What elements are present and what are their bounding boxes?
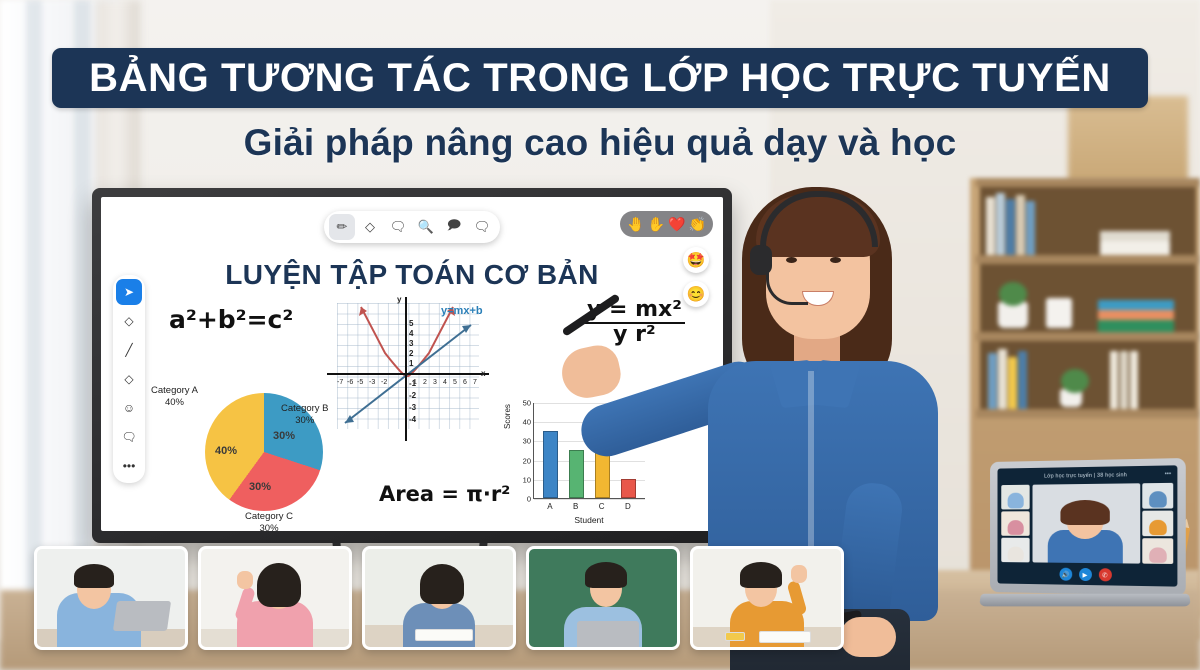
participant-grid [1001,483,1173,564]
student-thumbnail[interactable] [362,546,516,650]
chat-icon[interactable]: 🗨 [469,214,495,240]
page-title: BẢNG TƯƠNG TÁC TRONG LỚP HỌC TRỰC TUYẾN [89,56,1111,101]
whiteboard-tool-rail[interactable]: ➤ ◇ ╱ ◇ ☺ 🗨 ••• [113,275,145,483]
graph-x-axis-label: x [481,369,485,378]
emoji-search-icon[interactable]: ☺ [116,395,142,421]
active-speaker-tile[interactable] [1032,483,1140,563]
comment-icon[interactable]: 🗨 [385,214,411,240]
pie-slice-value-a: 40% [215,445,237,457]
comment-icon[interactable]: 🗨 [116,424,142,450]
page-title-banner: BẢNG TƯƠNG TÁC TRONG LỚP HỌC TRỰC TUYẾN [52,48,1148,108]
bar-student-b [569,450,584,498]
bar-chart-y-label: Scores [503,404,512,429]
hand-icon[interactable]: ✋ [648,216,665,233]
participant-column-right [1142,483,1173,564]
pie-label-category-c: Category C30% [245,511,293,531]
formula-handwritten-denominator: y r² [613,322,656,347]
participant-tile[interactable] [1142,539,1173,564]
graph-y-axis-label: y [397,295,401,304]
pie-slice-value-b: 30% [273,430,295,442]
cursor-icon[interactable]: ➤ [116,279,142,305]
page-subtitle: Giải pháp nâng cao hiệu quả dạy và học [0,122,1200,164]
more-icon[interactable]: ••• [116,453,142,479]
student-thumbnail[interactable] [690,546,844,650]
note-icon[interactable]: 🗩 [441,214,467,240]
line-icon[interactable]: ╱ [116,337,142,363]
bar-ytick-30: 30 [523,437,531,446]
student-thumbnail[interactable] [198,546,352,650]
eraser-icon[interactable]: ◇ [116,308,142,334]
coordinate-graph: y x y=mx+b -7 -6 -5 -3 -2 1 2 3 4 5 6 7 … [323,295,493,445]
camera-button[interactable]: ▶ [1079,568,1092,581]
eraser-icon[interactable]: ◇ [357,214,383,240]
zoom-in-icon[interactable]: 🔍 [413,214,439,240]
graph-y-axis [405,297,407,441]
bar-student-a [543,431,558,498]
call-controls[interactable]: 🔊 ▶ ✆ [998,567,1178,583]
heart-icon[interactable]: ❤️ [668,216,685,233]
bar-ytick-0: 0 [527,495,531,504]
formula-pythagoras: a²+b²=c² [169,305,293,334]
pie-slice-value-c: 30% [249,481,271,493]
bar-ytick-20: 20 [523,456,531,465]
whiteboard-toolbar[interactable]: ✏ ◇ 🗨 🔍 🗩 🗨 [324,211,500,243]
bar-ytick-40: 40 [523,418,531,427]
bar-student-d [621,479,636,498]
pen-icon[interactable]: ✏ [329,214,355,240]
call-title: Lớp học trực tuyến | 38 học sinh [998,471,1178,480]
video-call-screen[interactable]: Lớp học trực tuyến | 38 học sinh ••• [998,465,1178,586]
graph-equation-annotation: y=mx+b [441,305,483,317]
mic-button[interactable]: 🔊 [1059,568,1072,581]
whiteboard-heading: LUYỆN TẬP TOÁN CƠ BẢN [101,259,723,291]
more-icon[interactable]: ••• [1165,472,1172,478]
participant-tile[interactable] [1142,483,1173,509]
pie-label-category-b: Category B30% [281,403,329,427]
end-call-button[interactable]: ✆ [1098,568,1111,581]
eraser-shape-icon[interactable]: ◇ [116,366,142,392]
formula-area: Area = π·r² [379,482,510,506]
bar-ytick-50: 50 [523,399,531,408]
student-thumbnail[interactable] [526,546,680,650]
student-thumbnail-strip [34,546,844,650]
bar-ytick-10: 10 [523,475,531,484]
graph-x-axis [327,373,489,375]
raise-hand-icon[interactable]: 🤚 [627,216,644,233]
pie-label-category-a: Category A40% [151,385,198,409]
graph-curves [323,295,493,445]
interactive-whiteboard[interactable]: ✏ ◇ 🗨 🔍 🗩 🗨 ➤ ◇ ╱ ◇ ☺ 🗨 ••• 🤚 ✋ ❤️ 👏 🤩 😊 [92,188,732,543]
participant-tile[interactable] [1142,511,1173,536]
bar-chart-x-label: Student [533,515,645,525]
student-thumbnail[interactable] [34,546,188,650]
bar-chart-x-ticks: A B C D [533,502,645,511]
whiteboard-screen[interactable]: ✏ ◇ 🗨 🔍 🗩 🗨 ➤ ◇ ╱ ◇ ☺ 🗨 ••• 🤚 ✋ ❤️ 👏 🤩 😊 [101,197,723,531]
